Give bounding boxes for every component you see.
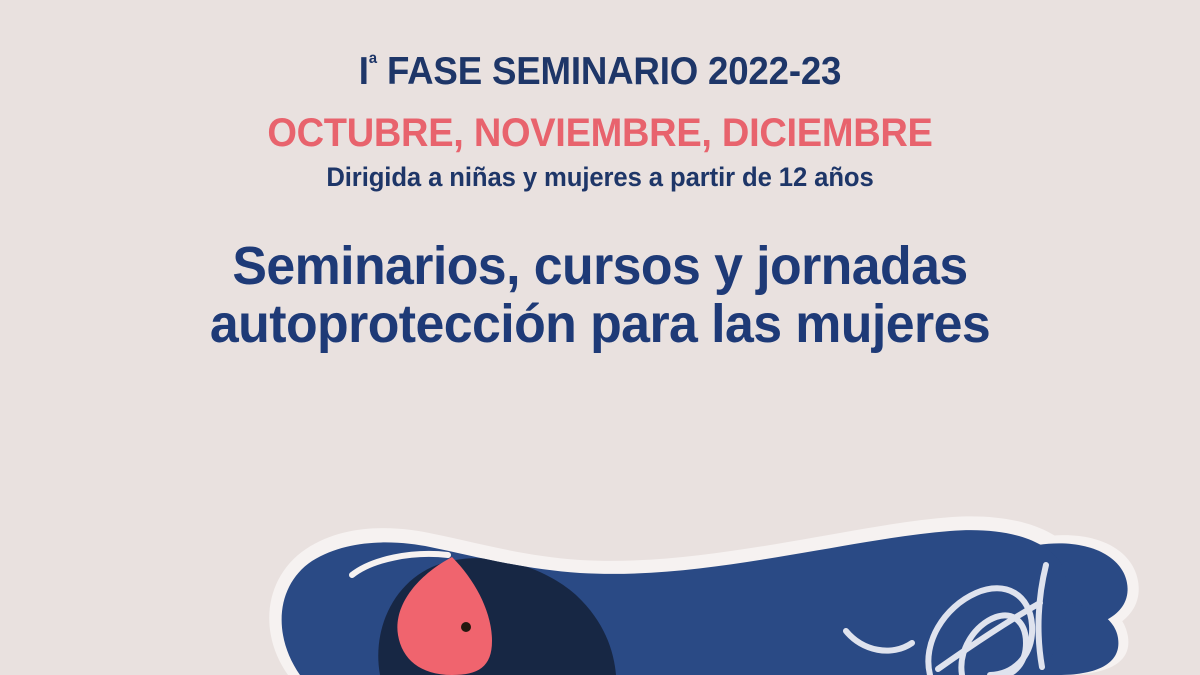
months-heading: OCTUBRE, NOVIEMBRE, DICIEMBRE xyxy=(30,91,1170,153)
page-title: Seminarios, cursos y jornadas autoprotec… xyxy=(24,191,1176,354)
kicker-ordinal-mark: ª xyxy=(369,50,377,77)
petal-dot xyxy=(461,622,471,632)
seminar-phase-kicker: Iª FASE SEMINARIO 2022-23 xyxy=(36,0,1164,91)
raised-fist-arm-illustration xyxy=(0,445,1200,675)
poster-canvas: Iª FASE SEMINARIO 2022-23 OCTUBRE, NOVIE… xyxy=(0,0,1200,675)
kicker-rest-text: FASE SEMINARIO 2022-23 xyxy=(377,50,841,93)
audience-subtitle: Dirigida a niñas y mujeres a partir de 1… xyxy=(30,153,1170,191)
poster-text-block: Iª FASE SEMINARIO 2022-23 OCTUBRE, NOVIE… xyxy=(0,0,1200,354)
kicker-ordinal-number: I xyxy=(359,50,369,93)
headline-line-1: Seminarios, cursos y jornadas xyxy=(24,237,1176,295)
headline-line-2: autoprotección para las mujeres xyxy=(24,295,1176,353)
